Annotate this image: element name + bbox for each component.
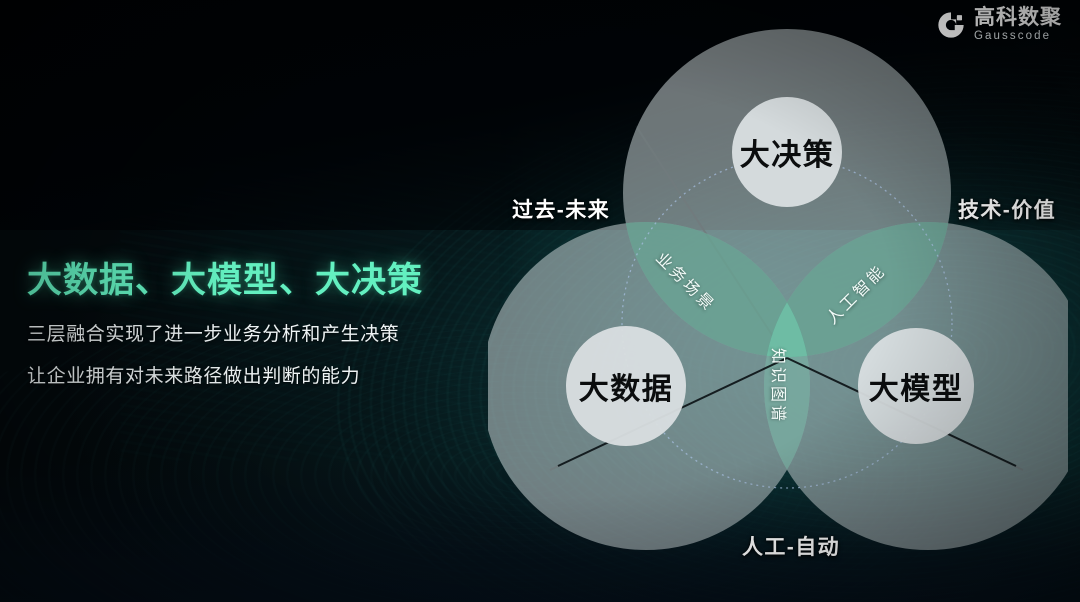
left-text-panel: 大数据、大模型、大决策 三层融合实现了进一步业务分析和产生决策 让企业拥有对未来… xyxy=(27,252,497,388)
slide-root: 高科数聚 Gausscode 大数据、大模型、大决策 三层融合实现了进一步业务分… xyxy=(0,0,1080,602)
venn-axis-label-manual-automatic: 人工-自动 xyxy=(742,531,840,561)
venn-axis-label-tech-value: 技术-价值 xyxy=(958,194,1056,224)
venn-axis-label-past-future: 过去-未来 xyxy=(512,194,610,224)
venn-label-knowledge-graph: 知识图谱 xyxy=(768,348,792,424)
venn-label-bigmodel: 大模型 xyxy=(869,364,964,408)
venn-diagram: 大决策 大数据 大模型 业务场景 人工智能 知识图谱 xyxy=(488,18,1068,578)
subtitle-line-2: 让企业拥有对未来路径做出判断的能力 xyxy=(27,361,497,388)
venn-diagram-svg xyxy=(488,18,1068,578)
venn-label-decision: 大决策 xyxy=(740,130,835,174)
venn-label-bigdata: 大数据 xyxy=(579,364,674,408)
page-title: 大数据、大模型、大决策 xyxy=(27,252,497,303)
subtitle-line-1: 三层融合实现了进一步业务分析和产生决策 xyxy=(27,319,497,346)
